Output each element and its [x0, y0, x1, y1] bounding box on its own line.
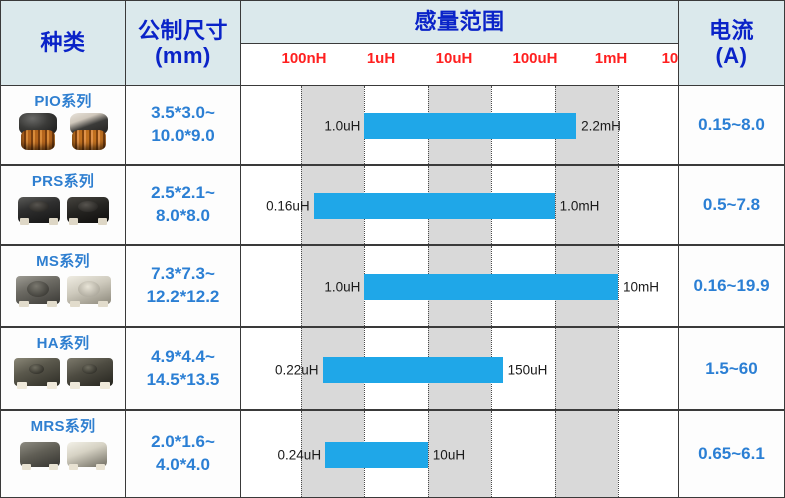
product-photo-ms — [67, 273, 111, 309]
header-size-line1: 公制尺寸 — [138, 18, 228, 43]
scale-tick-0: 100nH — [281, 50, 326, 67]
table-row-size-cell: 3.5*3.0~ 10.0*9.0 — [125, 85, 241, 165]
table-row-current-cell: 0.5~7.8 — [678, 165, 785, 245]
size-line2: 10.0*9.0 — [151, 126, 214, 145]
range-min-label: 1.0uH — [324, 119, 360, 134]
size-line1: 2.0*1.6~ — [151, 432, 215, 451]
table-row-size-cell: 2.0*1.6~ 4.0*4.0 — [125, 410, 241, 498]
scale-header: 100nH 1uH 10uH 100uH 1mH 10mH — [240, 43, 679, 86]
inductor-series-table: 种类 公制尺寸 (mm) 感量范围 100nH 1uH 10uH 100uH 1… — [0, 0, 785, 498]
series-name: PIO系列 — [34, 90, 91, 111]
product-photo-prs — [18, 193, 60, 227]
header-current: 电流 (A) — [678, 0, 785, 86]
scale-tick-2: 10uH — [436, 50, 473, 67]
product-photo-pio — [67, 113, 111, 153]
range-min-label: 0.22uH — [275, 362, 319, 377]
product-photo-pio — [16, 113, 60, 153]
size-line1: 2.5*2.1~ — [151, 183, 215, 202]
product-photo-prs — [67, 193, 109, 227]
decade-band — [555, 328, 618, 409]
table-row-type-cell: HA系列 — [0, 327, 126, 410]
decade-gridline — [491, 411, 492, 497]
decade-gridline — [618, 166, 619, 244]
table-row-size-cell: 4.9*4.4~ 14.5*13.5 — [125, 327, 241, 410]
table-row-size-cell: 7.3*7.3~ 12.2*12.2 — [125, 245, 241, 327]
table-row-range-cell: 0.22uH 150uH — [240, 327, 679, 410]
header-size-line2: (mm) — [155, 43, 211, 68]
product-photo-group — [16, 113, 111, 153]
current-value: 1.5~60 — [705, 359, 757, 379]
scale-tick-3: 100uH — [512, 50, 557, 67]
table-row-type-cell: PIO系列 — [0, 85, 126, 165]
product-photo-ms — [16, 273, 60, 309]
current-value: 0.16~19.9 — [693, 276, 769, 296]
range-bar — [364, 274, 618, 300]
range-min-label: 1.0uH — [324, 280, 360, 295]
range-min-label: 0.16uH — [266, 199, 310, 214]
decade-gridline — [428, 411, 429, 497]
size-line2: 4.0*4.0 — [156, 455, 210, 474]
decade-gridline — [301, 246, 302, 326]
range-min-label: 0.24uH — [278, 448, 322, 463]
table-row-current-cell: 0.16~19.9 — [678, 245, 785, 327]
product-photo-group — [14, 355, 113, 391]
header-type: 种类 — [0, 0, 126, 86]
scale-tick-4: 1mH — [595, 50, 628, 67]
product-photo-mrs — [67, 438, 107, 472]
current-value: 0.15~8.0 — [698, 115, 765, 135]
size-line2: 8.0*8.0 — [156, 206, 210, 225]
table-row-type-cell: MRS系列 — [0, 410, 126, 498]
range-bar — [325, 442, 428, 468]
decade-band — [555, 411, 618, 497]
header-current-line2: (A) — [715, 43, 747, 68]
header-type-label: 种类 — [40, 30, 85, 55]
product-photo-ha — [67, 355, 113, 391]
product-photo-group — [16, 273, 111, 309]
table-row-current-cell: 0.65~6.1 — [678, 410, 785, 498]
series-name: MRS系列 — [31, 415, 96, 436]
product-photo-group — [20, 438, 107, 472]
range-bar — [314, 193, 555, 219]
header-size: 公制尺寸 (mm) — [125, 0, 241, 86]
table-row-size-cell: 2.5*2.1~ 8.0*8.0 — [125, 165, 241, 245]
header-range-label: 感量范围 — [414, 9, 504, 34]
decade-gridline — [555, 411, 556, 497]
decade-gridline — [555, 166, 556, 244]
header-current-line1: 电流 — [709, 18, 754, 43]
series-name: PRS系列 — [32, 170, 94, 191]
current-value: 0.65~6.1 — [698, 444, 765, 464]
table-row-range-cell: 1.0uH 10mH — [240, 245, 679, 327]
range-max-label: 2.2mH — [581, 119, 621, 134]
product-photo-mrs — [20, 438, 60, 472]
table-row-range-cell: 0.24uH 10uH — [240, 410, 679, 498]
range-max-label: 10mH — [623, 280, 659, 295]
range-max-label: 150uH — [508, 362, 548, 377]
size-line1: 4.9*4.4~ — [151, 347, 215, 366]
current-value: 0.5~7.8 — [703, 195, 760, 215]
decade-gridline — [618, 246, 619, 326]
table-row-current-cell: 0.15~8.0 — [678, 85, 785, 165]
table-row-type-cell: MS系列 — [0, 245, 126, 327]
product-photo-group — [18, 193, 109, 227]
size-line1: 3.5*3.0~ — [151, 103, 215, 122]
decade-gridline — [555, 328, 556, 409]
table-row-type-cell: PRS系列 — [0, 165, 126, 245]
decade-gridline — [301, 86, 302, 164]
size-line2: 14.5*13.5 — [147, 370, 220, 389]
table-row-range-cell: 1.0uH 2.2mH — [240, 85, 679, 165]
series-name: HA系列 — [37, 332, 90, 353]
product-photo-ha — [14, 355, 60, 391]
range-bar — [364, 113, 576, 139]
table-row-current-cell: 1.5~60 — [678, 327, 785, 410]
range-bar — [323, 357, 503, 383]
decade-gridline — [618, 328, 619, 409]
range-max-label: 10uH — [433, 448, 465, 463]
decade-gridline — [618, 411, 619, 497]
series-name: MS系列 — [36, 250, 90, 271]
size-line2: 12.2*12.2 — [147, 287, 220, 306]
range-max-label: 1.0mH — [560, 199, 600, 214]
header-range: 感量范围 — [240, 0, 679, 44]
size-line1: 7.3*7.3~ — [151, 264, 215, 283]
table-row-range-cell: 0.16uH 1.0mH — [240, 165, 679, 245]
scale-tick-1: 1uH — [367, 50, 395, 67]
